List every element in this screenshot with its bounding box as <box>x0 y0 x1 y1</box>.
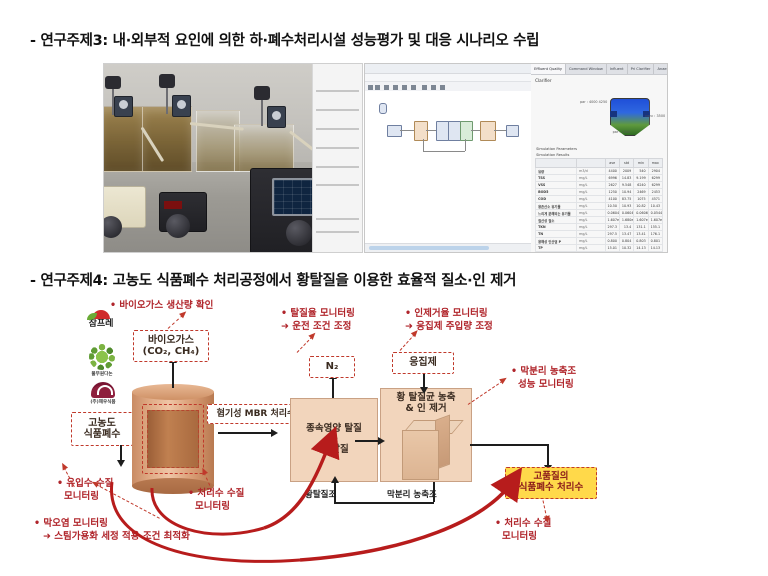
anno-influent-quality: • 유입수 수질 모니터링 <box>57 478 113 504</box>
cell-unit: mg/L <box>577 182 605 189</box>
sim-titlebar <box>365 64 531 74</box>
logo-haewoo: (주)해우식품 <box>84 382 122 405</box>
cell-value: 10.82 <box>634 203 648 210</box>
node-influent: 고농도식품폐수 <box>71 412 133 446</box>
sim-horizontal-scrollbar[interactable] <box>365 243 531 252</box>
node-influent-label: 고농도식품폐수 <box>84 418 121 441</box>
photo-pump-head-2 <box>166 214 190 238</box>
flow-node-influent[interactable] <box>387 125 402 137</box>
anno-mbr-effluent-quality: • 처리수 수질 모니터링 <box>188 488 244 514</box>
anno-fouling-line1: • 막오염 모니터링 <box>34 518 190 531</box>
table-row: TPmg/L15.0110.3214.1314.13 <box>536 245 663 252</box>
table-row: 용해성 인산염 Pmg/L0.8000.8040.8030.801 <box>536 238 663 245</box>
table-row: 유량m3/d440020095402904 <box>536 168 663 175</box>
col-unit <box>577 159 605 168</box>
cell-value: 4100 <box>605 196 619 203</box>
node-high-quality-effluent: 고품질의식품폐수 처리수 <box>505 467 597 499</box>
cell-name: TP <box>536 245 577 252</box>
leader-denitrification <box>297 336 313 353</box>
cell-value: 14.13 <box>634 245 648 252</box>
cell-value: 6996 <box>605 175 619 182</box>
flow-recycle-line <box>423 151 465 152</box>
arrow-denitrification-to-membrane <box>355 440 379 442</box>
haewoo-mark-icon <box>91 382 115 398</box>
cell-value: 13.4 <box>619 224 633 231</box>
cell-value: 0.06044 <box>619 210 633 217</box>
anno-mbr-effluent-quality-line2: 모니터링 <box>188 501 244 514</box>
table-row: BOD5mg/L125010.9424692453 <box>536 189 663 196</box>
photo-stirrer-motor-3 <box>254 86 270 100</box>
product-line-horizontal <box>470 444 548 446</box>
chamfre-leaf-icon <box>92 310 110 319</box>
cell-value: 143.9 <box>619 252 633 254</box>
cell-unit: mg/L <box>577 175 605 182</box>
cell-name: 총 알칼리도 <box>536 252 577 254</box>
sim-annotation-0: par : 4000 4250 <box>580 100 607 104</box>
sim-results-table-wrap: ave std min max 유량m3/d440020095402904TSS… <box>531 158 667 253</box>
photo-stirrer-motor-1 <box>105 76 121 89</box>
node-high-quality-effluent-label: 고품질의식품폐수 처리수 <box>519 472 584 494</box>
lab-reactor-photo <box>103 63 363 253</box>
anno-denitrification-line1: • 탈질율 모니터링 <box>281 308 355 321</box>
cell-value: 0.801 <box>648 238 662 245</box>
return-line-right <box>433 482 435 502</box>
cell-value: 2627 <box>605 182 619 189</box>
sim-flowsheet-canvas[interactable] <box>365 91 531 243</box>
arrow-coagulant-to-tank <box>423 374 425 388</box>
logo-chamfre: 참프레 <box>78 310 124 329</box>
green-circle-icon <box>89 344 115 370</box>
table-row: TNmg/L297.513.4713.41176.1 <box>536 231 663 238</box>
cell-value: 1250 <box>605 189 619 196</box>
cell-name: COD <box>536 196 577 203</box>
cell-unit: mgCaCO3/L <box>577 252 605 254</box>
process-diagram: 참프레 풀무원다논 (주)해우식품 고농도식품폐수 바이오가스(CO₂, CH₄… <box>0 292 768 576</box>
anno-product-quality-line1: • 처리수 수질 <box>495 518 551 531</box>
concentration-box-3d <box>402 420 450 478</box>
table-row: 질산성 질소mg/L1.607e+061.680e+031.607e+001.6… <box>536 217 663 224</box>
sim-tab-bar[interactable]: Effluent Quality Command Window Influent… <box>531 64 667 75</box>
cell-value: 13.41 <box>634 231 648 238</box>
sim-tab-influent[interactable]: Influent <box>607 64 628 74</box>
cell-value: 10.32 <box>619 245 633 252</box>
cell-name: VSS <box>536 182 577 189</box>
flow-node-source[interactable] <box>379 103 387 114</box>
cell-value: 143.7 <box>634 252 648 254</box>
cell-value: 143.9 <box>605 252 619 254</box>
photo-side-monitor <box>312 64 362 252</box>
flow-node-effluent[interactable] <box>506 125 519 137</box>
sim-clarifier-graphic: par : 4000 4250 par : 1500 conc : 3500 <box>531 84 667 146</box>
cell-unit: mg/L <box>577 203 605 210</box>
table-row: TSSmg/L699614.839.1996299 <box>536 175 663 182</box>
flow-recycle-up <box>423 139 424 151</box>
cell-value: 2009 <box>619 168 633 175</box>
leader-product-quality <box>543 500 548 518</box>
table-row: 느리게 분해되는 유기물mg/L0.060480.060440.060670.0… <box>536 210 663 217</box>
simulation-software-screenshot: Effluent Quality Command Window Influent… <box>364 63 668 253</box>
photo-controller-2 <box>172 95 191 117</box>
return-line-left-up <box>334 482 336 502</box>
cell-value: 2453 <box>648 189 662 196</box>
node-membrane-concentration-tank-label: 황 탈질균 농축& 인 제거 <box>396 393 455 415</box>
sim-results-table: ave std min max 유량m3/d440020095402904TSS… <box>535 158 663 253</box>
cell-name: 용해성 인산염 P <box>536 238 577 245</box>
cell-value: 2469 <box>634 189 648 196</box>
anno-product-quality-line2: 모니터링 <box>495 531 551 544</box>
anno-membrane-line2: 성능 모니터링 <box>511 379 576 392</box>
cell-name: 느리게 분해되는 유기물 <box>536 210 577 217</box>
cell-value: 6240 <box>634 182 648 189</box>
cell-name: TSS <box>536 175 577 182</box>
table-row: TKNmg/L297.313.4131.1155.1 <box>536 224 663 231</box>
arrow-reactor-to-biogas <box>172 362 174 388</box>
table-row: 용존산소 유기물mg/L10.5010.9310.8210.43 <box>536 203 663 210</box>
node-coagulant: 응집제 <box>392 352 454 374</box>
section-heading-topic3: - 연구주제3: 내·외부적 요인에 의한 하·폐수처리시설 성능평가 및 대응… <box>30 29 539 50</box>
cell-name: TKN <box>536 224 577 231</box>
sim-menubar <box>365 74 531 82</box>
cell-value: 0.06048 <box>605 210 619 217</box>
cell-name: TN <box>536 231 577 238</box>
cell-unit: mg/L <box>577 224 605 231</box>
leader-membrane <box>468 381 503 405</box>
cell-value: 0.05440 <box>648 210 662 217</box>
table-row: VSSmg/L26279.54862406299 <box>536 182 663 189</box>
photo-stirrer-motor-2 <box>159 74 175 88</box>
slide-root: - 연구주제3: 내·외부적 요인에 의한 하·폐수처리시설 성능평가 및 대응… <box>0 0 768 576</box>
reactor-membrane-outline <box>142 404 204 474</box>
sim-annotation-2: conc : 3500 <box>645 114 665 118</box>
flow-node-secondary-clarifier[interactable] <box>480 121 496 141</box>
sim-panel-title: Clarifier <box>531 75 667 84</box>
sim-table-body: 유량m3/d440020095402904TSSmg/L699614.839.1… <box>536 168 663 254</box>
cell-unit: mg/L <box>577 196 605 203</box>
cell-value: 297.3 <box>605 224 619 231</box>
cell-value: 9.548 <box>619 182 633 189</box>
node-denitrification-tank-label: 종속영양 탈질&황 탈질 <box>306 424 362 457</box>
anno-product-quality: • 처리수 수질 모니터링 <box>495 518 551 544</box>
cell-value: 83.75 <box>619 196 633 203</box>
cell-value: 131.1 <box>634 224 648 231</box>
caption-membrane-tank: 막분리 농축조 <box>387 488 437 500</box>
cell-value: 10.94 <box>619 189 633 196</box>
anno-biogas-line1: • 바이오가스 생산량 확인 <box>110 300 213 313</box>
cell-unit: mg/L <box>577 210 605 217</box>
node-biogas: 바이오가스(CO₂, CH₄) <box>133 330 209 362</box>
caption-sulfur-tank: 황탈질조 <box>305 488 336 500</box>
anno-p-removal-line1: • 인제거율 모니터링 <box>405 308 493 321</box>
anno-mbr-effluent-quality-line1: • 처리수 수질 <box>188 488 244 501</box>
anno-fouling-line2: ➜ 스팀가용화 세정 적용 조건 최적화 <box>34 531 190 544</box>
node-biogas-label: 바이오가스(CO₂, CH₄) <box>143 335 200 358</box>
node-coagulant-label: 응집제 <box>409 357 437 369</box>
sim-tab-effluent-quality[interactable]: Effluent Quality <box>531 64 566 74</box>
photo-pump-head-3 <box>286 220 312 246</box>
anno-denitrification-line2: ➜ 운전 조건 조정 <box>281 321 355 334</box>
arrow-denitrification-to-n2 <box>332 378 334 398</box>
cell-unit: m3/d <box>577 168 605 175</box>
cell-name: BOD5 <box>536 189 577 196</box>
cell-value: 6299 <box>648 175 662 182</box>
sim-annotation-1: par : 1500 <box>613 130 631 134</box>
cell-value: 0.804 <box>619 238 633 245</box>
anno-denitrification: • 탈질율 모니터링 ➜ 운전 조건 조정 <box>281 308 355 334</box>
col-min: min <box>634 159 648 168</box>
photo-controller-1 <box>114 96 133 117</box>
cell-value: 1.680e+03 <box>619 217 633 224</box>
cell-value: 143.8 <box>648 252 662 254</box>
node-n2: N₂ <box>309 356 355 378</box>
table-row: 총 알칼리도mgCaCO3/L143.9143.9143.7143.8 <box>536 252 663 254</box>
leader-biogas <box>168 315 184 329</box>
sim-tab-command-window[interactable]: Command Window <box>566 64 607 74</box>
cell-value: 14.13 <box>648 245 662 252</box>
cell-value: 0.803 <box>634 238 648 245</box>
table-header-row: ave std min max <box>536 159 663 168</box>
return-line-horizontal <box>334 502 434 504</box>
arrow-mbr-to-denitrification <box>218 432 272 434</box>
cell-value: 6299 <box>648 182 662 189</box>
flow-connector-2 <box>426 130 436 131</box>
cell-value: 155.1 <box>648 224 662 231</box>
cell-value: 540 <box>634 168 648 175</box>
arrow-influent-to-reactor <box>120 445 122 461</box>
cell-unit: mg/L <box>577 245 605 252</box>
flow-connector-1 <box>400 130 414 131</box>
sim-flowsheet-pane <box>365 64 532 252</box>
photo-tank-4 <box>234 124 294 172</box>
col-ave: ave <box>605 159 619 168</box>
cell-value: 1075 <box>634 196 648 203</box>
flow-node-primary-clarifier[interactable] <box>414 121 428 141</box>
cell-value: 176.1 <box>648 231 662 238</box>
cell-value: 4571 <box>648 196 662 203</box>
logo-green: 풀무원다논 <box>82 344 122 377</box>
cell-value: 297.5 <box>605 231 619 238</box>
cell-value: 1.607e+00 <box>634 217 648 224</box>
cell-value: 10.93 <box>619 203 633 210</box>
cell-value: 0.06067 <box>634 210 648 217</box>
anno-membrane: • 막분리 농축조 성능 모니터링 <box>511 366 576 392</box>
cell-value: 10.43 <box>648 203 662 210</box>
cell-value: 4400 <box>605 168 619 175</box>
col-max: max <box>648 159 662 168</box>
flow-connector-3 <box>471 130 480 131</box>
logo-chamfre-name: 참프레 <box>78 320 124 329</box>
box-front-face <box>402 430 439 480</box>
cell-value: 10.50 <box>605 203 619 210</box>
cell-unit: mg/L <box>577 238 605 245</box>
cell-name: 용존산소 유기물 <box>536 203 577 210</box>
anaerobic-mbr-reactor <box>132 384 214 494</box>
flow-node-aerobic[interactable] <box>460 121 473 141</box>
sim-results-pane: Effluent Quality Command Window Influent… <box>531 64 667 252</box>
sim-tab-pri-clarifier[interactable]: Pri Clarifier <box>628 64 655 74</box>
cell-value: 2904 <box>648 168 662 175</box>
col-name <box>536 159 577 168</box>
leader-p-removal <box>400 334 415 351</box>
cell-value: 14.83 <box>619 175 633 182</box>
anno-influent-quality-line2: 모니터링 <box>57 491 113 504</box>
arrow-to-product <box>547 444 549 466</box>
logo-green-caption: 풀무원다논 <box>82 371 122 377</box>
cell-value: 1.607e+06 <box>648 217 662 224</box>
cell-unit: mg/L <box>577 189 605 196</box>
anno-membrane-line1: • 막분리 농축조 <box>511 366 576 379</box>
cell-unit: mg/L <box>577 217 605 224</box>
cell-value: 0.800 <box>605 238 619 245</box>
cell-value: 9.199 <box>634 175 648 182</box>
anno-biogas: • 바이오가스 생산량 확인 <box>110 300 213 313</box>
node-mbr-effluent-label: 혐기성 MBR 처리수 <box>217 409 296 419</box>
table-row: CODmg/L410083.7510754571 <box>536 196 663 203</box>
logo-haewoo-caption: (주)해우식품 <box>84 399 122 405</box>
node-n2-label: N₂ <box>326 361 339 373</box>
sim-tab-anaerobic-tank[interactable]: Anaerobic Tank <box>654 64 668 74</box>
cell-value: 15.01 <box>605 245 619 252</box>
photo-controller-3 <box>267 106 286 128</box>
section-heading-topic4: - 연구주제4: 고농도 식품폐수 처리공정에서 황탈질을 이용한 효율적 질소… <box>30 269 516 290</box>
col-std: std <box>619 159 633 168</box>
cell-name: 질산성 질소 <box>536 217 577 224</box>
cell-unit: mg/L <box>577 231 605 238</box>
cell-value: 13.47 <box>619 231 633 238</box>
flow-connector-4 <box>494 130 506 131</box>
anno-fouling: • 막오염 모니터링 ➜ 스팀가용화 세정 적용 조건 최적화 <box>34 518 190 544</box>
flow-recycle-down <box>465 139 466 151</box>
cell-name: 유량 <box>536 168 577 175</box>
cell-value: 1.607e+06 <box>605 217 619 224</box>
